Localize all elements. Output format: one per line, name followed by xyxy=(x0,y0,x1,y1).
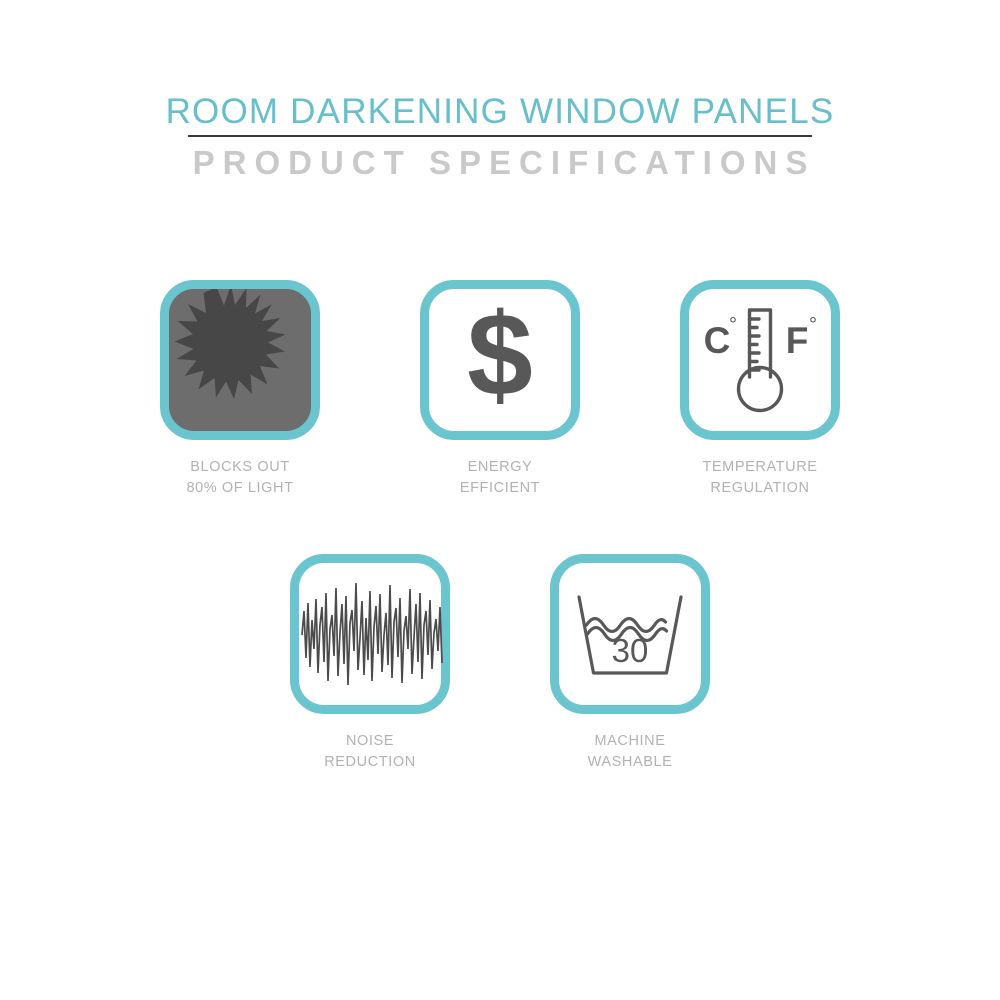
spec-tile-noise-reduction xyxy=(290,554,450,714)
spec-label-line-2: 80% OF LIGHT xyxy=(186,478,293,499)
spec-label-line-1: ENERGY xyxy=(460,457,540,478)
spec-label-line-2: REDUCTION xyxy=(324,752,416,773)
spec-label-line-1: BLOCKS OUT xyxy=(186,457,293,478)
spec-label-machine-washable: MACHINE WASHABLE xyxy=(588,731,673,773)
sound-wave-icon xyxy=(299,563,441,705)
celsius-letter: C xyxy=(704,320,731,361)
thermometer-icon: C ° F ° xyxy=(689,289,831,431)
spec-item-temperature-regulation: C ° F ° TEMPERATURE REGULATION xyxy=(675,280,845,499)
specifications-row-1: BLOCKS OUT 80% OF LIGHT $ ENERGY EFFICIE… xyxy=(0,280,1000,499)
title-divider xyxy=(188,135,812,137)
spec-label-line-2: WASHABLE xyxy=(588,752,673,773)
spec-label-line-1: NOISE xyxy=(324,731,416,752)
page-subtitle: PRODUCT SPECIFICATIONS xyxy=(0,141,1000,185)
spec-tile-blocks-out-light xyxy=(160,280,320,440)
spec-tile-energy-efficient: $ xyxy=(420,280,580,440)
spec-item-noise-reduction: NOISE REDUCTION xyxy=(285,554,455,773)
spec-label-noise-reduction: NOISE REDUCTION xyxy=(324,731,416,773)
spec-label-line-1: TEMPERATURE xyxy=(702,457,817,478)
spec-label-line-2: EFFICIENT xyxy=(460,478,540,499)
spec-label-energy-efficient: ENERGY EFFICIENT xyxy=(460,457,540,499)
spec-tile-machine-washable: 30 xyxy=(550,554,710,714)
specifications-grid: BLOCKS OUT 80% OF LIGHT $ ENERGY EFFICIE… xyxy=(0,280,1000,773)
fahrenheit-degree: ° xyxy=(809,314,817,336)
sun-blocked-icon xyxy=(169,289,311,431)
dollar-sign-icon: $ xyxy=(429,289,571,431)
spec-label-line-1: MACHINE xyxy=(588,731,673,752)
wash-tub-icon: 30 xyxy=(559,563,701,705)
spec-tile-temperature-regulation: C ° F ° xyxy=(680,280,840,440)
celsius-degree: ° xyxy=(729,314,737,336)
spec-label-blocks-out-light: BLOCKS OUT 80% OF LIGHT xyxy=(186,457,293,499)
product-specifications-page: ROOM DARKENING WINDOW PANELS PRODUCT SPE… xyxy=(0,0,1000,1000)
spec-item-machine-washable: 30 MACHINE WASHABLE xyxy=(545,554,715,773)
wash-temperature-value: 30 xyxy=(612,632,649,669)
specifications-row-2: NOISE REDUCTION 30 xyxy=(0,554,1000,773)
spec-label-temperature-regulation: TEMPERATURE REGULATION xyxy=(702,457,817,499)
spec-item-blocks-out-light: BLOCKS OUT 80% OF LIGHT xyxy=(155,280,325,499)
fahrenheit-letter: F xyxy=(786,320,809,361)
svg-text:$: $ xyxy=(467,289,533,421)
header: ROOM DARKENING WINDOW PANELS PRODUCT SPE… xyxy=(0,92,1000,185)
page-title: ROOM DARKENING WINDOW PANELS xyxy=(0,92,1000,132)
spec-label-line-2: REGULATION xyxy=(702,478,817,499)
spec-item-energy-efficient: $ ENERGY EFFICIENT xyxy=(415,280,585,499)
